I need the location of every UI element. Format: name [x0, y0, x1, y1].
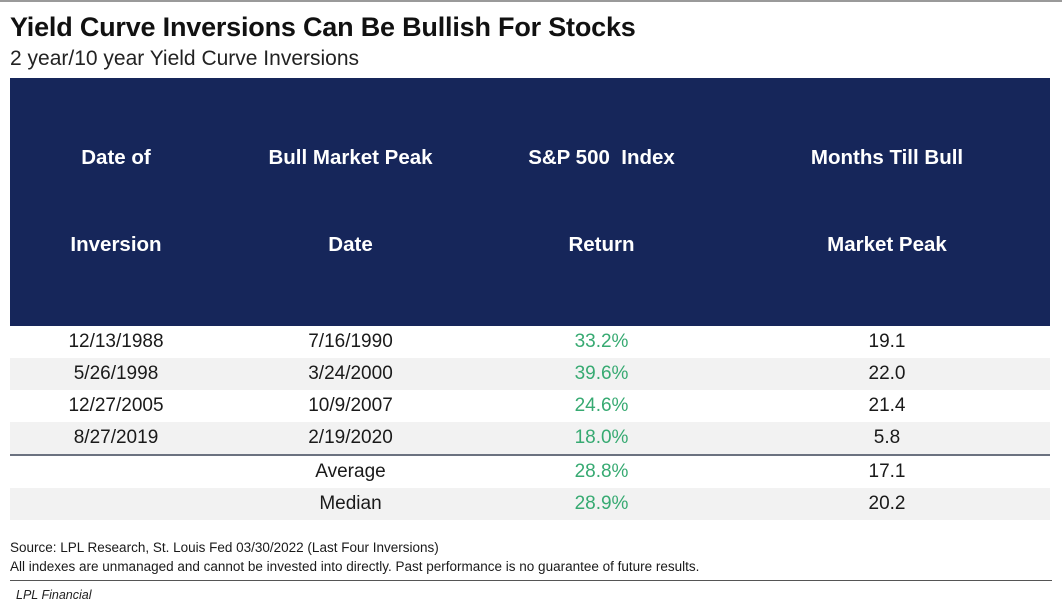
cell-return: 18.0% — [479, 422, 724, 455]
chart-card: Yield Curve Inversions Can Be Bullish Fo… — [0, 0, 1062, 441]
column-header-line2: Market Peak — [728, 230, 1046, 259]
cell-months: 19.1 — [724, 326, 1050, 358]
page-title: Yield Curve Inversions Can Be Bullish Fo… — [10, 11, 1052, 43]
cell-peak-date: 2/19/2020 — [222, 422, 479, 455]
page-subtitle: 2 year/10 year Yield Curve Inversions — [10, 46, 1052, 71]
cell-months: 21.4 — [724, 390, 1050, 422]
table-row-median: Median 28.9% 20.2 — [10, 488, 1050, 520]
table-body: 12/13/1988 7/16/1990 33.2% 19.1 5/26/199… — [10, 326, 1050, 520]
cell-inversion-date: 8/27/2019 — [10, 422, 222, 455]
footer-divider — [10, 580, 1052, 581]
column-header-bull-market-peak-date: Bull Market Peak Date — [222, 78, 479, 326]
cell-months: 20.2 — [724, 488, 1050, 520]
cell-inversion-date: 12/27/2005 — [10, 390, 222, 422]
cell-peak-date: 10/9/2007 — [222, 390, 479, 422]
disclaimer-note: All indexes are unmanaged and cannot be … — [10, 557, 1052, 576]
table-header: Date of Inversion Bull Market Peak Date … — [10, 78, 1050, 326]
column-header-line2: Inversion — [14, 230, 218, 259]
brand-label: LPL Financial — [16, 588, 1052, 602]
column-header-months-till-bull-market-peak: Months Till Bull Market Peak — [724, 78, 1050, 326]
cell-return: 39.6% — [479, 358, 724, 390]
column-header-line1: Bull Market Peak — [226, 143, 475, 172]
column-header-sp500-index-return: S&P 500 Index Return — [479, 78, 724, 326]
table-row-average: Average 28.8% 17.1 — [10, 455, 1050, 488]
source-note: Source: LPL Research, St. Louis Fed 03/3… — [10, 538, 1052, 557]
column-header-line1: Months Till Bull — [728, 143, 1046, 172]
cell-summary-label: Average — [222, 455, 479, 488]
inversions-table: Date of Inversion Bull Market Peak Date … — [10, 78, 1050, 520]
cell-months: 17.1 — [724, 455, 1050, 488]
cell-return: 28.9% — [479, 488, 724, 520]
table-header-row: Date of Inversion Bull Market Peak Date … — [10, 78, 1050, 326]
table-row: 12/13/1988 7/16/1990 33.2% 19.1 — [10, 326, 1050, 358]
column-header-line2: Return — [483, 230, 720, 259]
table-row: 5/26/1998 3/24/2000 39.6% 22.0 — [10, 358, 1050, 390]
cell-return: 24.6% — [479, 390, 724, 422]
cell-months: 22.0 — [724, 358, 1050, 390]
cell-inversion-date: 12/13/1988 — [10, 326, 222, 358]
cell-peak-date: 7/16/1990 — [222, 326, 479, 358]
column-header-line1: Date of — [14, 143, 218, 172]
cell-peak-date: 3/24/2000 — [222, 358, 479, 390]
cell-empty — [10, 488, 222, 520]
table-row: 12/27/2005 10/9/2007 24.6% 21.4 — [10, 390, 1050, 422]
column-header-date-of-inversion: Date of Inversion — [10, 78, 222, 326]
cell-empty — [10, 455, 222, 488]
table-row: 8/27/2019 2/19/2020 18.0% 5.8 — [10, 422, 1050, 455]
card-inner: Yield Curve Inversions Can Be Bullish Fo… — [10, 2, 1052, 602]
cell-summary-label: Median — [222, 488, 479, 520]
cell-inversion-date: 5/26/1998 — [10, 358, 222, 390]
cell-return: 33.2% — [479, 326, 724, 358]
column-header-line2: Date — [226, 230, 475, 259]
footnotes: Source: LPL Research, St. Louis Fed 03/3… — [10, 538, 1052, 576]
cell-return: 28.8% — [479, 455, 724, 488]
column-header-line1: S&P 500 Index — [483, 143, 720, 172]
cell-months: 5.8 — [724, 422, 1050, 455]
